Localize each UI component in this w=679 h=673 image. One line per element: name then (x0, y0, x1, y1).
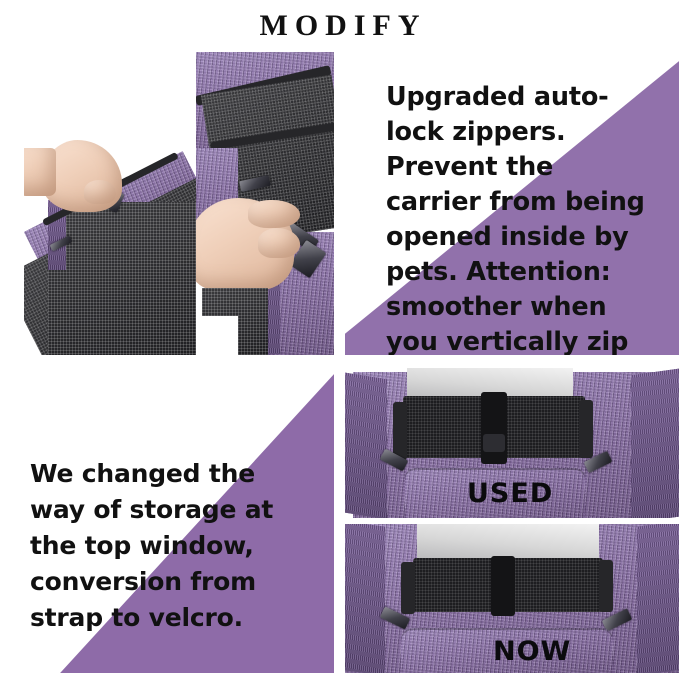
zipper-text-panel: Upgraded auto-lock zippers. Prevent the … (345, 52, 679, 355)
top-window-now (417, 524, 599, 560)
label-used: USED (467, 478, 553, 509)
side-strap-left-used (393, 402, 407, 460)
side-strap-right-now (599, 560, 613, 612)
zipper-description-text: Upgraded auto-lock zippers. Prevent the … (386, 80, 651, 355)
thumb-left (84, 180, 116, 204)
label-now: NOW (493, 636, 571, 667)
thumb-right (258, 228, 300, 258)
storage-photos-panel: USED NOW (345, 368, 679, 673)
mesh-panel-lower (48, 202, 202, 355)
storage-text-panel: We changed the way of storage at the top… (0, 368, 334, 673)
carrier-right-wall-now (637, 524, 679, 673)
side-strap-left-now (401, 562, 415, 614)
carrier-left-wall-now (345, 524, 385, 673)
zipper-photo-left (24, 52, 202, 355)
buckle-hardware-used (483, 434, 505, 452)
finger-right (248, 200, 300, 228)
bottom-white-gap (196, 316, 238, 355)
storage-description-text: We changed the way of storage at the top… (30, 456, 316, 636)
strap-buckle-used (481, 392, 507, 464)
forearm-left (24, 148, 56, 196)
storage-photo-now: NOW (345, 524, 679, 673)
zipper-photo-right (196, 52, 334, 355)
storage-photo-used: USED (345, 368, 679, 520)
side-strap-right-used (579, 400, 593, 458)
carrier-left-wall-used (345, 373, 387, 520)
photo-divider (345, 518, 679, 524)
velcro-band-now (491, 556, 515, 616)
carrier-right-wall-used (631, 369, 679, 520)
page-title: MODIFY (0, 0, 679, 52)
zipper-photos-panel (24, 52, 334, 355)
